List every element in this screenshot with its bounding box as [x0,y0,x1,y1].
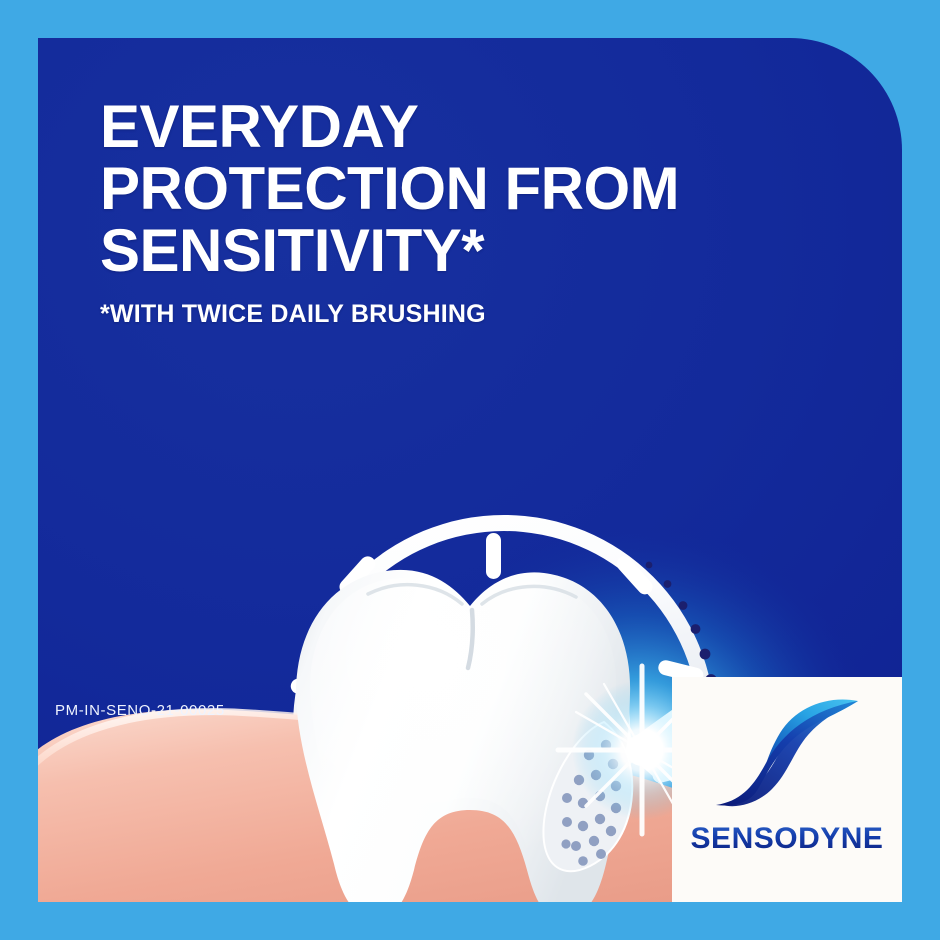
sensodyne-swoosh-logo [708,693,868,813]
gauge-dot [691,624,701,634]
headline-block: EVERYDAY PROTECTION FROM SENSITIVITY* *W… [100,96,890,329]
headline-disclaimer: *WITH TWICE DAILY BRUSHING [100,300,890,329]
brand-wordmark: SENSODYNE [672,822,902,856]
gauge-dot [700,649,711,660]
gauge-dot [646,562,653,569]
ad-card: EVERYDAY PROTECTION FROM SENSITIVITY* *W… [38,38,902,902]
swoosh-svg [708,693,868,813]
ad-canvas: EVERYDAY PROTECTION FROM SENSITIVITY* *W… [0,0,940,940]
gauge-dot [664,580,672,588]
brand-panel: SENSODYNE [672,677,902,902]
job-code-text: PM-IN-SENO-21-00025 [55,702,225,719]
gauge-tick [486,533,501,579]
page-title: EVERYDAY PROTECTION FROM SENSITIVITY* [100,96,890,282]
gauge-dot [679,601,688,610]
